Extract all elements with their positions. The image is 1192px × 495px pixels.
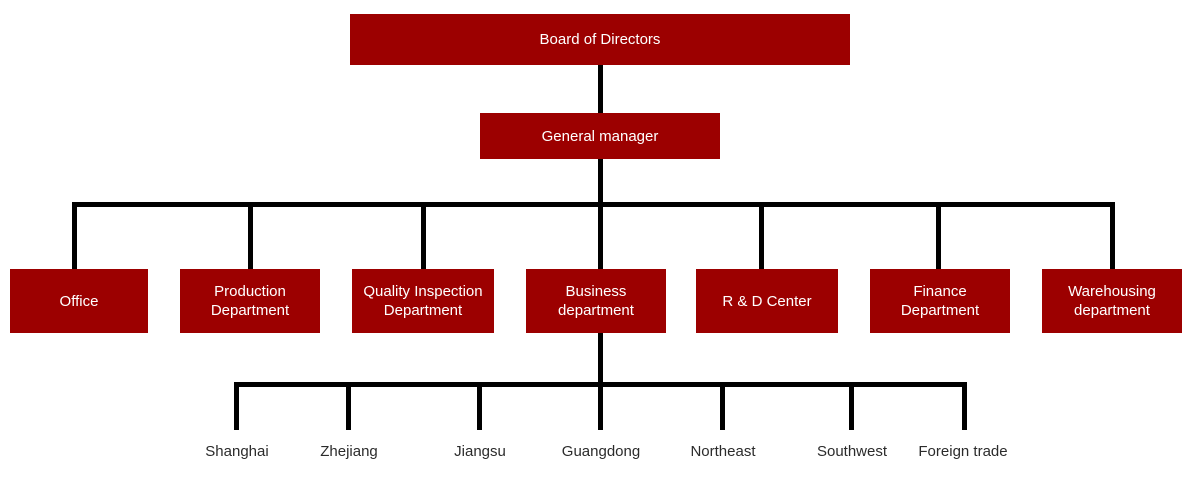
leaf-southwest[interactable]: Southwest	[792, 443, 912, 461]
node-label: Finance Department	[901, 282, 979, 320]
leaf-northeast[interactable]: Northeast	[663, 443, 783, 461]
node-label: Board of Directors	[540, 30, 661, 49]
leaf-label: Foreign trade	[918, 443, 1007, 460]
node-label: Office	[60, 292, 99, 311]
connector-business-to-region-bus	[598, 332, 603, 387]
drop-warehousing-department	[1110, 202, 1115, 271]
node-label: Production Department	[211, 282, 289, 320]
node-label: R & D Center	[722, 292, 811, 311]
node-rd-center[interactable]: R & D Center	[696, 269, 838, 333]
leaf-label: Jiangsu	[454, 443, 506, 460]
drop-production-department	[248, 202, 253, 271]
drop-jiangsu	[477, 382, 482, 430]
leaf-label: Zhejiang	[320, 443, 378, 460]
node-label: Business department	[558, 282, 634, 320]
org-chart: Board of Directors General manager Offic…	[0, 0, 1192, 495]
node-label: Quality Inspection Department	[363, 282, 482, 320]
node-label: Warehousing department	[1068, 282, 1156, 320]
node-business-department[interactable]: Business department	[526, 269, 666, 333]
leaf-label: Northeast	[690, 443, 755, 460]
drop-foreign-trade	[962, 382, 967, 430]
leaf-shanghai[interactable]: Shanghai	[177, 443, 297, 461]
node-board-of-directors[interactable]: Board of Directors	[350, 14, 850, 65]
node-warehousing-department[interactable]: Warehousing department	[1042, 269, 1182, 333]
node-quality-inspection-department[interactable]: Quality Inspection Department	[352, 269, 494, 333]
leaf-label: Guangdong	[562, 443, 640, 460]
leaf-guangdong[interactable]: Guangdong	[541, 443, 661, 461]
node-label: General manager	[542, 127, 659, 146]
bus-departments	[72, 202, 1115, 207]
drop-office	[72, 202, 77, 271]
leaf-label: Shanghai	[205, 443, 268, 460]
drop-guangdong	[598, 382, 603, 430]
connector-manager-to-bus	[598, 157, 603, 207]
node-finance-department[interactable]: Finance Department	[870, 269, 1010, 333]
drop-southwest	[849, 382, 854, 430]
connector-board-to-manager	[598, 63, 603, 115]
drop-business-department	[598, 202, 603, 271]
node-office[interactable]: Office	[10, 269, 148, 333]
leaf-zhejiang[interactable]: Zhejiang	[289, 443, 409, 461]
drop-shanghai	[234, 382, 239, 430]
leaf-jiangsu[interactable]: Jiangsu	[420, 443, 540, 461]
leaf-foreign-trade[interactable]: Foreign trade	[903, 443, 1023, 461]
drop-northeast	[720, 382, 725, 430]
node-production-department[interactable]: Production Department	[180, 269, 320, 333]
drop-quality-inspection-department	[421, 202, 426, 271]
drop-finance-department	[936, 202, 941, 271]
drop-rd-center	[759, 202, 764, 271]
drop-zhejiang	[346, 382, 351, 430]
node-general-manager[interactable]: General manager	[480, 113, 720, 159]
leaf-label: Southwest	[817, 443, 887, 460]
